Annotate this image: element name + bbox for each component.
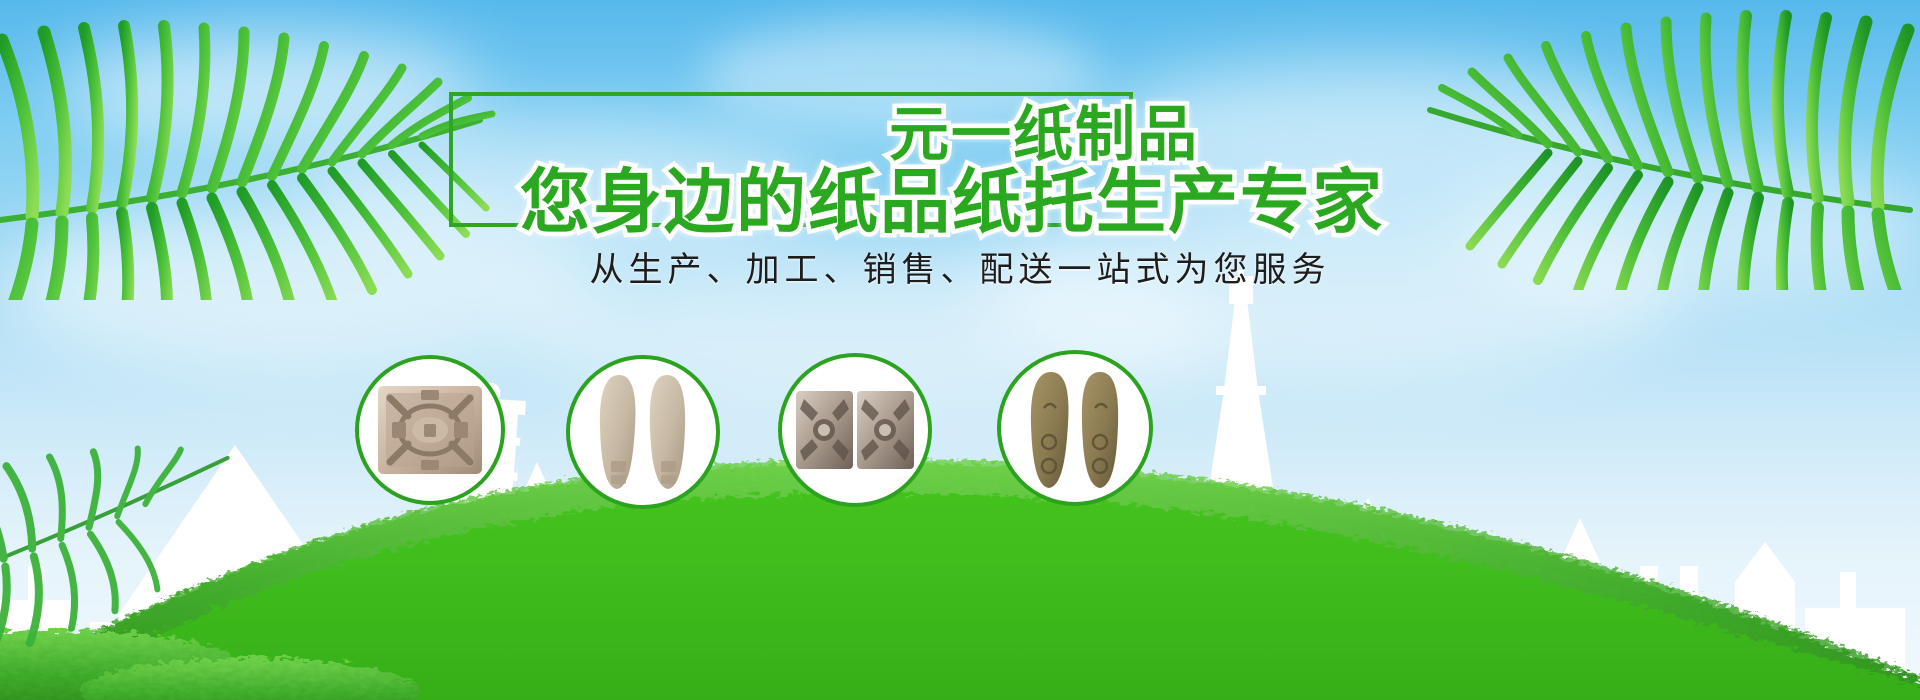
molded-pulp-corner-protectors-icon: [794, 387, 916, 473]
molded-pulp-square-tray-icon: [374, 380, 486, 480]
product-circle-1[interactable]: [355, 355, 505, 505]
promo-banner: 元一纸制品 您身边的纸品纸托生产专家 从生产、加工、销售、配送一站式为您服务: [0, 0, 1920, 700]
product-circle-2[interactable]: [566, 355, 720, 509]
product-circle-3[interactable]: [778, 353, 932, 507]
banner-subtitle: 从生产、加工、销售、配送一站式为您服务: [0, 242, 1920, 291]
palm-frond-icon: [0, 401, 278, 659]
product-circle-4[interactable]: [997, 350, 1153, 506]
green-grass-hill: [0, 300, 1920, 700]
city-skyline-silhouette: [0, 270, 1920, 700]
molded-pulp-shoe-trees-dark-icon: [1018, 364, 1132, 492]
molded-pulp-shoe-trees-light-icon: [587, 369, 699, 495]
headline-line-2: 您身边的纸品纸托生产专家: [0, 146, 1912, 247]
headline-line-2-text: 您身边的纸品纸托生产专家: [520, 161, 1384, 243]
